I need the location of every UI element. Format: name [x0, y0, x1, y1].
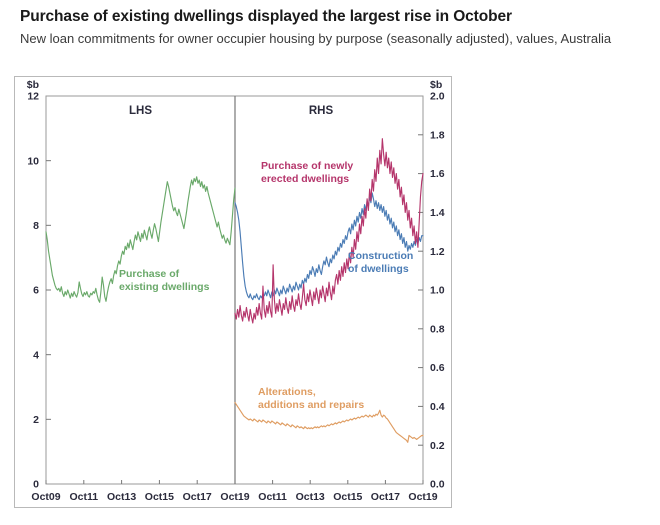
x-axis-tick-label: Oct19 — [408, 491, 437, 503]
left-axis-tick-label: 6 — [33, 285, 39, 297]
svg-text:of dwellings: of dwellings — [348, 263, 409, 275]
page-title: Purchase of existing dwellings displayed… — [20, 8, 650, 26]
right-axis-tick-label: 1.8 — [430, 129, 445, 141]
right-axis-tick-label: 1.2 — [430, 246, 445, 258]
left-axis-tick-label: 12 — [27, 91, 39, 103]
right-axis-tick-label: 0.0 — [430, 479, 445, 491]
chart-plot: 024681012$b0.00.20.40.60.81.01.21.41.61.… — [15, 77, 451, 507]
panel-label-rhs: RHS — [309, 105, 334, 117]
right-axis-tick-label: 2.0 — [430, 91, 445, 103]
x-axis-tick-label: Oct11 — [69, 491, 98, 503]
panel-label-lhs: LHS — [129, 105, 152, 117]
right-axis-tick-label: 0.6 — [430, 362, 445, 374]
left-axis-tick-label: 8 — [33, 220, 39, 232]
left-axis-tick-label: 2 — [33, 414, 39, 426]
x-axis-tick-label: Oct15 — [333, 491, 362, 503]
x-axis-tick-label: Oct13 — [296, 491, 325, 503]
svg-text:Construction: Construction — [348, 250, 413, 262]
series-label-3: Alterations,additions and repairs — [258, 386, 364, 411]
svg-text:erected dwellings: erected dwellings — [261, 173, 349, 185]
svg-text:additions and repairs: additions and repairs — [258, 399, 364, 411]
x-axis-tick-label: Oct11 — [258, 491, 287, 503]
svg-text:Alterations,: Alterations, — [258, 386, 316, 398]
right-axis-tick-label: 0.2 — [430, 440, 445, 452]
series-label-1: Constructionof dwellings — [348, 250, 413, 275]
x-axis-tick-label: Oct09 — [31, 491, 60, 503]
x-axis-tick-label: Oct19 — [220, 491, 249, 503]
x-axis-tick-label: Oct17 — [183, 491, 212, 503]
chart-card: 024681012$b0.00.20.40.60.81.01.21.41.61.… — [14, 76, 452, 508]
svg-text:Purchase of: Purchase of — [119, 268, 180, 280]
page-subtitle: New loan commitments for owner occupier … — [20, 31, 660, 46]
left-axis-tick-label: 10 — [27, 155, 39, 167]
svg-text:existing dwellings: existing dwellings — [119, 281, 210, 293]
right-axis-tick-label: 0.4 — [430, 401, 445, 413]
right-axis-tick-label: 1.4 — [430, 207, 445, 219]
left-axis-tick-label: 0 — [33, 479, 39, 491]
x-axis-tick-label: Oct13 — [107, 491, 136, 503]
x-axis-tick-label: Oct15 — [145, 491, 174, 503]
right-axis-tick-label: 1.0 — [430, 285, 445, 297]
x-axis-tick-label: Oct17 — [371, 491, 400, 503]
series-label-2: Purchase of newlyerected dwellings — [261, 160, 353, 185]
chart-page: Purchase of existing dwellings displayed… — [0, 0, 660, 525]
left-axis-unit: $b — [27, 79, 39, 91]
right-axis-tick-label: 1.6 — [430, 168, 445, 180]
series-label-0: Purchase ofexisting dwellings — [119, 268, 210, 293]
right-axis-tick-label: 0.8 — [430, 323, 445, 335]
left-axis-tick-label: 4 — [33, 349, 39, 361]
svg-text:Purchase of newly: Purchase of newly — [261, 160, 353, 172]
right-axis-unit: $b — [430, 79, 442, 91]
